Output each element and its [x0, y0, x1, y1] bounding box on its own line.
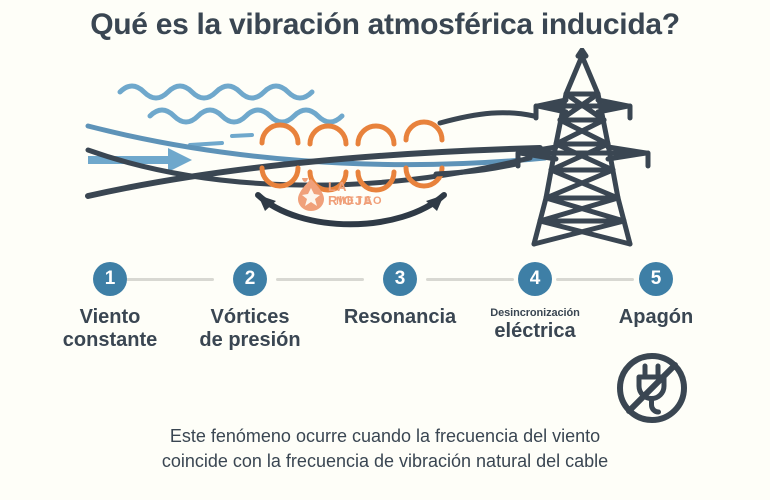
step-2-label-line2: de presión [180, 329, 320, 352]
step-4-number: 4 [518, 262, 552, 296]
step-4[interactable]: 4 Desincronización eléctrica [465, 262, 605, 343]
step-3-label: Resonancia [330, 306, 470, 329]
infographic-page: Qué es la vibración atmosférica inducida… [0, 0, 770, 500]
step-5-label-line1: Apagón [586, 306, 726, 329]
step-1-label-line1: Viento [40, 306, 180, 329]
step-2-label-line1: Vórtices [180, 306, 320, 329]
vibration-illustration [0, 48, 770, 268]
step-3-label-line1: Resonancia [330, 306, 470, 329]
wind-streamline-dashes [190, 135, 252, 145]
footer-note: Este fenómeno ocurre cuando la frecuenci… [0, 424, 770, 474]
oscillation-double-arrow [258, 195, 444, 224]
step-1-label: Viento constante [40, 306, 180, 352]
step-2[interactable]: 2 Vórtices de presión [180, 262, 320, 352]
step-3[interactable]: 3 Resonancia [330, 262, 470, 329]
step-5-number: 5 [639, 262, 673, 296]
step-5[interactable]: 5 Apagón [586, 262, 726, 329]
step-4-label-line1: Desincronización [465, 306, 605, 320]
step-1[interactable]: 1 Viento constante [40, 262, 180, 352]
step-4-label: Desincronización eléctrica [465, 306, 605, 343]
footer-line2: coincide con la frecuencia de vibración … [0, 449, 770, 474]
step-5-label: Apagón [586, 306, 726, 329]
footer-line1: Este fenómeno ocurre cuando la frecuenci… [0, 424, 770, 449]
wind-wave-lines [120, 86, 342, 122]
page-title: Qué es la vibración atmosférica inducida… [0, 8, 770, 42]
step-1-number: 1 [93, 262, 127, 296]
step-1-label-line2: constante [40, 329, 180, 352]
no-power-plug-icon [612, 348, 692, 428]
step-3-number: 3 [383, 262, 417, 296]
step-4-label-line2: eléctrica [465, 320, 605, 343]
step-2-label: Vórtices de presión [180, 306, 320, 352]
step-2-number: 2 [233, 262, 267, 296]
wind-direction-arrow [88, 148, 192, 172]
pressure-vortex-arcs-top [262, 122, 442, 144]
